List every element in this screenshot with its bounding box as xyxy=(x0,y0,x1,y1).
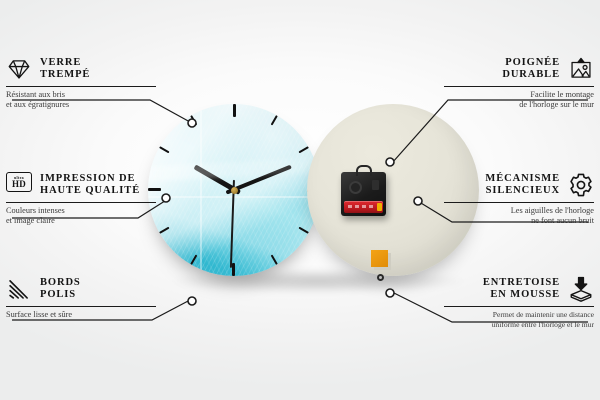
feature-subtitle: Résistant aux bris et aux égratignures xyxy=(6,90,156,110)
gear-icon xyxy=(568,172,594,198)
feature-entretoise-en-mousse[interactable]: ENTRETOISE EN MOUSSE Permet de maintenir… xyxy=(444,276,594,330)
feature-title: IMPRESSION DE HAUTE QUALITÉ xyxy=(40,173,140,198)
feature-poignee-durable[interactable]: POIGNÉE DURABLE Facilite le montage de l… xyxy=(444,56,594,110)
polished-edges-icon xyxy=(6,276,32,302)
feature-header: ultra HD IMPRESSION DE HAUTE QUALITÉ xyxy=(6,172,156,198)
feature-header: ENTRETOISE EN MOUSSE xyxy=(444,276,594,302)
feature-title: MÉCANISME SILENCIEUX xyxy=(485,173,560,198)
infographic-stage: VERRE TREMPÉ Résistant aux bris et aux é… xyxy=(0,0,600,400)
feature-header: MÉCANISME SILENCIEUX xyxy=(444,172,594,198)
feature-rule xyxy=(444,306,594,307)
feature-header: VERRE TREMPÉ xyxy=(6,56,156,82)
ultra-hd-large-text: HD xyxy=(12,180,26,189)
feature-header: BORDS POLIS xyxy=(6,276,156,302)
feature-subtitle: Facilite le montage de l'horloge sur le … xyxy=(444,90,594,110)
feature-title: BORDS POLIS xyxy=(40,277,81,302)
feature-rule xyxy=(6,86,156,87)
feature-mecanisme-silencieux[interactable]: MÉCANISME SILENCIEUX Les aiguilles de l'… xyxy=(444,172,594,226)
feature-header: POIGNÉE DURABLE xyxy=(444,56,594,82)
ultra-hd-icon: ultra HD xyxy=(6,172,32,198)
feature-rule xyxy=(444,202,594,203)
feature-impression-haute-qualite[interactable]: ultra HD IMPRESSION DE HAUTE QUALITÉ Cou… xyxy=(6,172,156,226)
picture-hanger-icon xyxy=(568,56,594,82)
feature-verre-trempe[interactable]: VERRE TREMPÉ Résistant aux bris et aux é… xyxy=(6,56,156,110)
feature-subtitle: Couleurs intenses et image claire xyxy=(6,206,156,226)
feature-rule xyxy=(444,86,594,87)
feature-subtitle: Surface lisse et sûre xyxy=(6,310,156,320)
feature-rule xyxy=(6,202,156,203)
feature-title: VERRE TREMPÉ xyxy=(40,57,90,82)
diamond-icon xyxy=(6,56,32,82)
feature-subtitle: Permet de maintenir une distance uniform… xyxy=(444,310,594,330)
feature-rule xyxy=(6,306,156,307)
feature-title: POIGNÉE DURABLE xyxy=(502,57,560,82)
feature-bords-polis[interactable]: BORDS POLIS Surface lisse et sûre xyxy=(6,276,156,320)
feature-subtitle: Les aiguilles de l'horloge ne font aucun… xyxy=(444,206,594,226)
feature-title: ENTRETOISE EN MOUSSE xyxy=(483,277,560,302)
foam-spacer-icon xyxy=(568,276,594,302)
